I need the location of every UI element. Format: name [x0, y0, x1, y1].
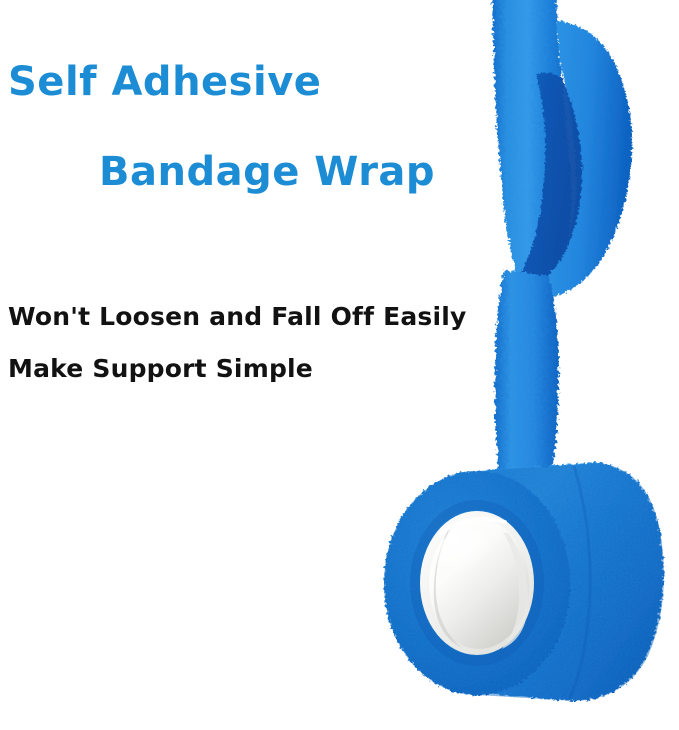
product-image-canvas: Self Adhesive Bandage Wrap Won't Loosen …	[0, 0, 679, 730]
subheadline-line-2: Make Support Simple	[8, 356, 313, 381]
barrel-texture	[460, 455, 675, 710]
folded-loop-face	[524, 20, 632, 297]
core-inner-shadow	[415, 505, 539, 661]
white-core	[420, 511, 534, 655]
headline-line-1: Self Adhesive	[8, 62, 321, 102]
hanging-strip	[492, 0, 571, 285]
strip-onto-roll	[498, 470, 626, 540]
headline-line-2: Bandage Wrap	[99, 152, 435, 192]
subheadline-line-1: Won't Loosen and Fall Off Easily	[8, 304, 467, 329]
face-texture	[380, 465, 580, 705]
narrow-strip	[495, 270, 559, 492]
folded-loop-shadow	[516, 73, 582, 287]
bandage-roll-barrel	[470, 462, 663, 701]
bandage-roll-face	[384, 471, 570, 695]
roll-seam	[570, 466, 590, 698]
